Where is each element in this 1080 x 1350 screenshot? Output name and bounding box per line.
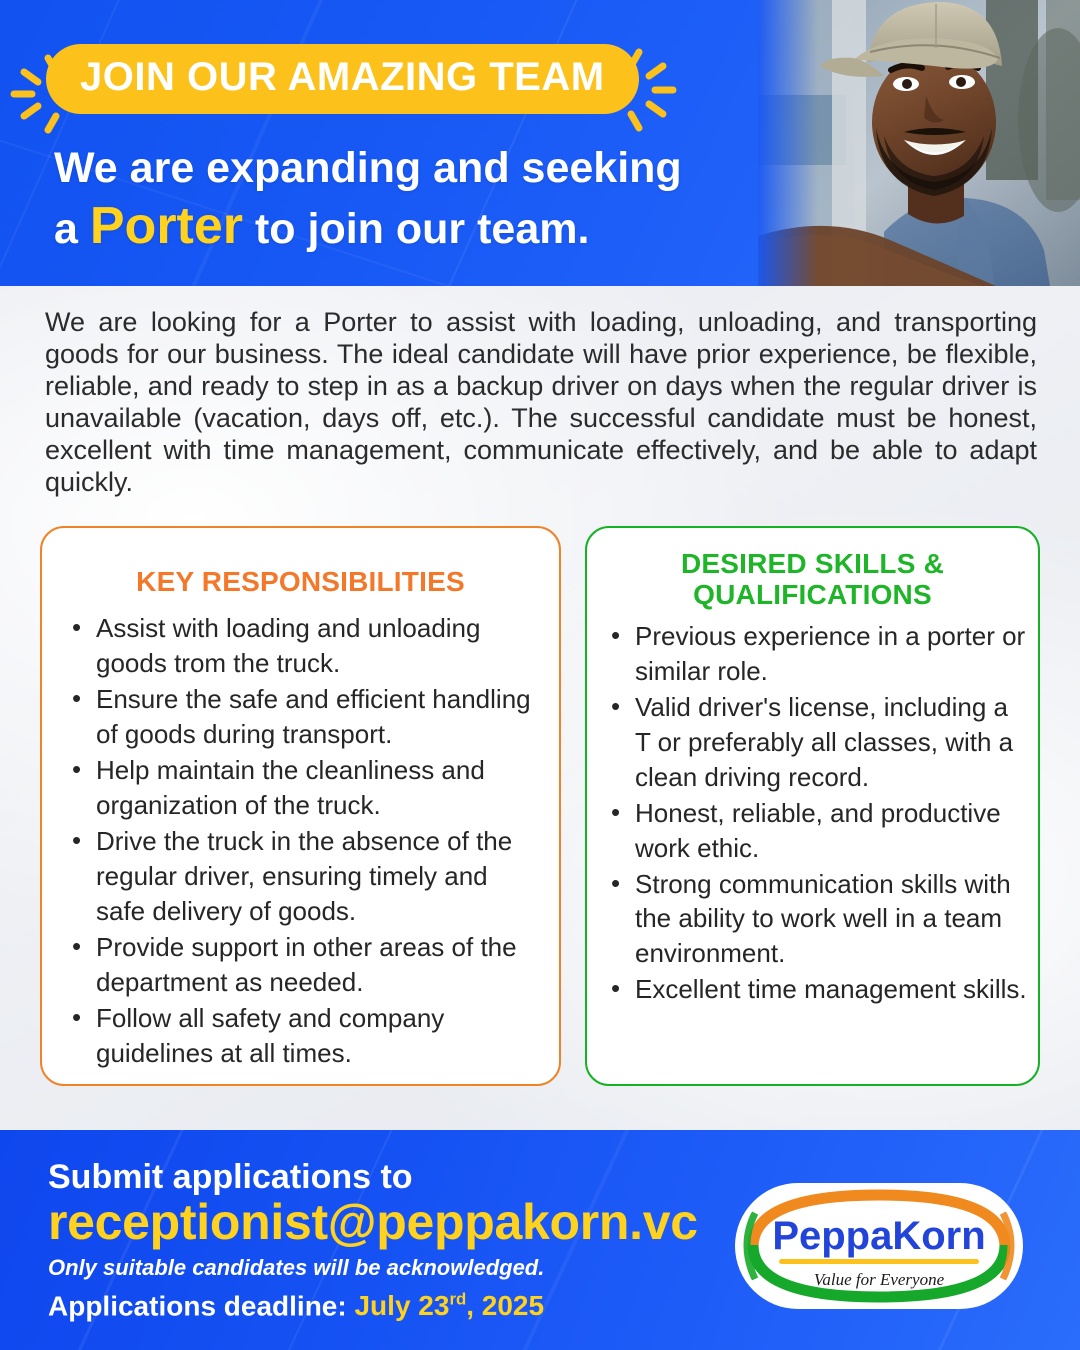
card-title: DESIRED SKILLS & QUALIFICATIONS xyxy=(587,528,1038,611)
deadline-date: July 23rd, 2025 xyxy=(354,1290,544,1321)
headline-line-1: We are expanding and seeking xyxy=(54,143,682,194)
acknowledgement-note: Only suitable candidates will be acknowl… xyxy=(48,1255,544,1281)
main-content: We are looking for a Porter to assist wi… xyxy=(0,286,1080,1130)
list-item: Previous experience in a porter or simil… xyxy=(605,619,1030,689)
header-banner: JOIN OUR AMAZING TEAM We are expanding a… xyxy=(0,0,1080,286)
deadline-ordinal-suffix: rd xyxy=(449,1290,466,1309)
list-item: Strong communication skills with the abi… xyxy=(605,867,1030,972)
deadline-day: July 23 xyxy=(354,1290,449,1321)
sun-rays-icon xyxy=(4,46,74,142)
logo-tagline-text: Value for Everyone xyxy=(814,1270,945,1289)
headline-line-2: a Porter to join our team. xyxy=(54,196,589,257)
list-item: Assist with loading and unloading goods … xyxy=(66,611,543,681)
list-item: Drive the truck in the absence of the re… xyxy=(66,824,543,929)
driver-photo xyxy=(758,0,1080,286)
list-item: Help maintain the cleanliness and organi… xyxy=(66,753,543,823)
list-item: Excellent time management skills. xyxy=(605,972,1030,1007)
peppakorn-logo: PeppaKorn Value for Everyone xyxy=(733,1183,1025,1309)
headline-prefix: a xyxy=(54,205,90,253)
list-item: Ensure the safe and efficient handling o… xyxy=(66,682,543,752)
application-email[interactable]: receptionist@peppakorn.vc xyxy=(48,1193,698,1251)
card-title: KEY RESPONSIBILITIES xyxy=(42,528,559,597)
submit-applications-label: Submit applications to xyxy=(48,1158,413,1197)
headline-suffix: to join our team. xyxy=(243,205,589,253)
deadline-label: Applications deadline: xyxy=(48,1290,354,1321)
list-item: Valid driver's license, including a T or… xyxy=(605,690,1030,795)
sun-rays-icon xyxy=(613,38,683,134)
deadline-year: , 2025 xyxy=(466,1290,544,1321)
badge-pill: JOIN OUR AMAZING TEAM xyxy=(46,44,639,114)
logo-brand-text: PeppaKorn xyxy=(772,1214,985,1258)
list-item: Provide support in other areas of the de… xyxy=(66,930,543,1000)
desired-skills-card: DESIRED SKILLS & QUALIFICATIONS Previous… xyxy=(585,526,1040,1086)
intro-paragraph: We are looking for a Porter to assist wi… xyxy=(45,307,1037,499)
join-team-badge: JOIN OUR AMAZING TEAM xyxy=(46,44,639,114)
list-item: Follow all safety and company guidelines… xyxy=(66,1001,543,1071)
deadline-line: Applications deadline: July 23rd, 2025 xyxy=(48,1290,544,1322)
key-responsibilities-card: KEY RESPONSIBILITIES Assist with loading… xyxy=(40,526,561,1086)
list-item: Honest, reliable, and productive work et… xyxy=(605,796,1030,866)
responsibilities-list: Assist with loading and unloading goods … xyxy=(42,611,559,1071)
headline-role: Porter xyxy=(90,197,243,255)
qualifications-list: Previous experience in a porter or simil… xyxy=(587,619,1038,1008)
badge-label: JOIN OUR AMAZING TEAM xyxy=(80,57,605,97)
